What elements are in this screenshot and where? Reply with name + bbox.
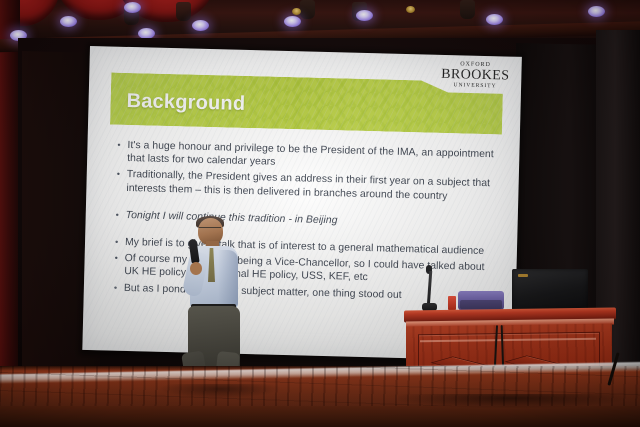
light-housing xyxy=(460,0,475,19)
stage-light xyxy=(192,20,209,31)
stage-light xyxy=(284,16,301,27)
laptop xyxy=(512,269,588,311)
light-housing xyxy=(176,2,191,21)
lectern-shadow xyxy=(398,394,624,408)
bullet-marker-icon: • xyxy=(113,236,125,249)
logo-line-brookes: BROOKES xyxy=(441,68,509,84)
bullet-marker-icon: • xyxy=(112,281,124,294)
stage-curtain-side xyxy=(0,0,20,370)
presenter-glasses xyxy=(199,227,221,232)
stage-light xyxy=(124,2,141,13)
stage-light xyxy=(588,6,605,17)
presentation-photo-scene: Background OXFORD BROOKES UNIVERSITY • I… xyxy=(0,0,640,427)
stage-light xyxy=(356,10,373,21)
bullet-marker-icon: • xyxy=(112,252,124,265)
case-band xyxy=(460,300,502,309)
presenter-hand xyxy=(190,262,202,275)
bullet-marker-icon: • xyxy=(115,168,127,181)
amber-ceiling-light xyxy=(292,8,301,15)
red-container xyxy=(448,296,456,310)
presenter-shirt-shading xyxy=(218,250,238,306)
presenter-shadow xyxy=(160,384,280,398)
bullet-text: Traditionally, the President gives an ad… xyxy=(126,168,497,204)
logo-line-university: UNIVERSITY xyxy=(441,83,509,90)
stage-front-step xyxy=(0,406,640,427)
bullet-item: • Traditionally, the President gives an … xyxy=(114,168,497,204)
stage-light xyxy=(486,14,503,25)
amber-ceiling-light xyxy=(406,6,415,13)
bullet-marker-icon: • xyxy=(114,208,126,221)
stage-light xyxy=(60,16,77,27)
slide-title: Background xyxy=(126,90,245,116)
laptop-logo-icon xyxy=(518,274,528,277)
oxford-brookes-logo: OXFORD BROOKES UNIVERSITY xyxy=(441,61,510,90)
bullet-marker-icon: • xyxy=(115,139,127,152)
light-housing xyxy=(300,0,315,19)
purple-equipment-case xyxy=(458,291,504,310)
